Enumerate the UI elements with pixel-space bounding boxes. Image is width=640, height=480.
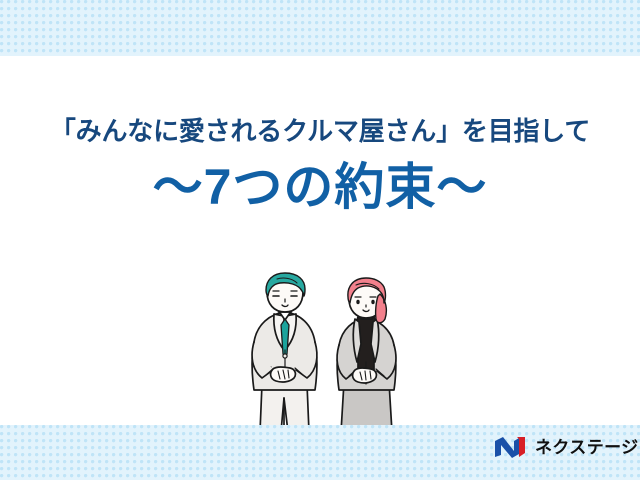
male-staff-figure xyxy=(252,273,317,432)
staff-illustration-svg xyxy=(240,272,420,432)
nextage-logo: ネクステージ xyxy=(494,436,639,459)
top-polka-dot-band xyxy=(0,0,640,56)
promise-banner: 「みんなに愛されるクルマ屋さん」を目指して ～7つの約束～ xyxy=(0,0,640,480)
headline-block: 「みんなに愛されるクルマ屋さん」を目指して ～7つの約束～ xyxy=(0,118,640,212)
headline-line-2: ～7つの約束～ xyxy=(0,162,640,212)
headline-line-1: 「みんなに愛されるクルマ屋さん」を目指して xyxy=(0,118,640,144)
female-staff-figure xyxy=(337,278,396,432)
nextage-wordmark: ネクステージ xyxy=(535,439,639,456)
bowing-staff-illustration xyxy=(240,272,420,432)
nextage-n-mark-icon xyxy=(494,436,528,459)
